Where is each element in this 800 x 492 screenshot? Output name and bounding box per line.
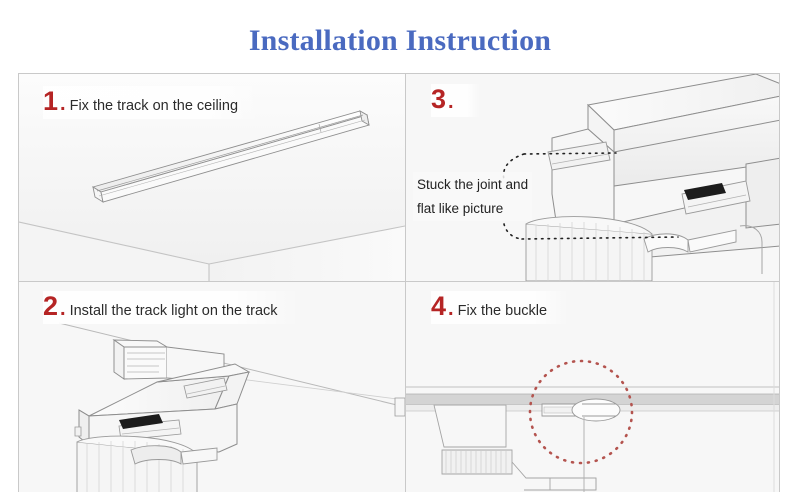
step-panel-1: 1 . Fix the track on the ceiling <box>19 74 405 281</box>
track-fragment-right <box>395 398 405 416</box>
lamp-shade <box>526 217 652 281</box>
step-1-caption: 1 . Fix the track on the ceiling <box>43 86 260 119</box>
callout-line-1: Stuck the joint and <box>417 173 528 197</box>
step-4-caption: 4 . Fix the buckle <box>431 291 569 324</box>
step-panel-4: 4 . Fix the buckle <box>406 282 780 492</box>
instruction-grid: 1 . Fix the track on the ceiling <box>18 73 780 492</box>
step-2-number: 2 <box>43 293 58 320</box>
step-4-text: Fix the buckle <box>458 304 547 319</box>
callout-dashed-upper-line <box>524 153 616 154</box>
step-4-number: 4 <box>431 293 446 320</box>
callout-note: Stuck the joint and flat like picture <box>413 172 532 221</box>
step-3-caption: 3 . <box>431 84 480 117</box>
step-2-separator: . <box>60 298 66 321</box>
page-title: Installation Instruction <box>0 24 800 58</box>
step-3-separator: . <box>448 91 454 114</box>
step-1-number: 1 <box>43 88 58 115</box>
step-panel-2: 2 . Install the track light on the track <box>19 282 405 492</box>
lamp-shade <box>77 436 197 492</box>
step-1-separator: . <box>60 93 66 116</box>
step-4-separator: . <box>448 298 454 321</box>
step-2-text: Install the track light on the track <box>70 304 278 319</box>
callout-line-2: flat like picture <box>417 197 528 221</box>
step-panel-3: 3 . Stuck the joint and flat like pictur… <box>406 74 780 281</box>
step-1-text: Fix the track on the ceiling <box>70 99 238 114</box>
step-2-caption: 2 . Install the track light on the track <box>43 291 300 324</box>
step-3-number: 3 <box>431 86 446 113</box>
